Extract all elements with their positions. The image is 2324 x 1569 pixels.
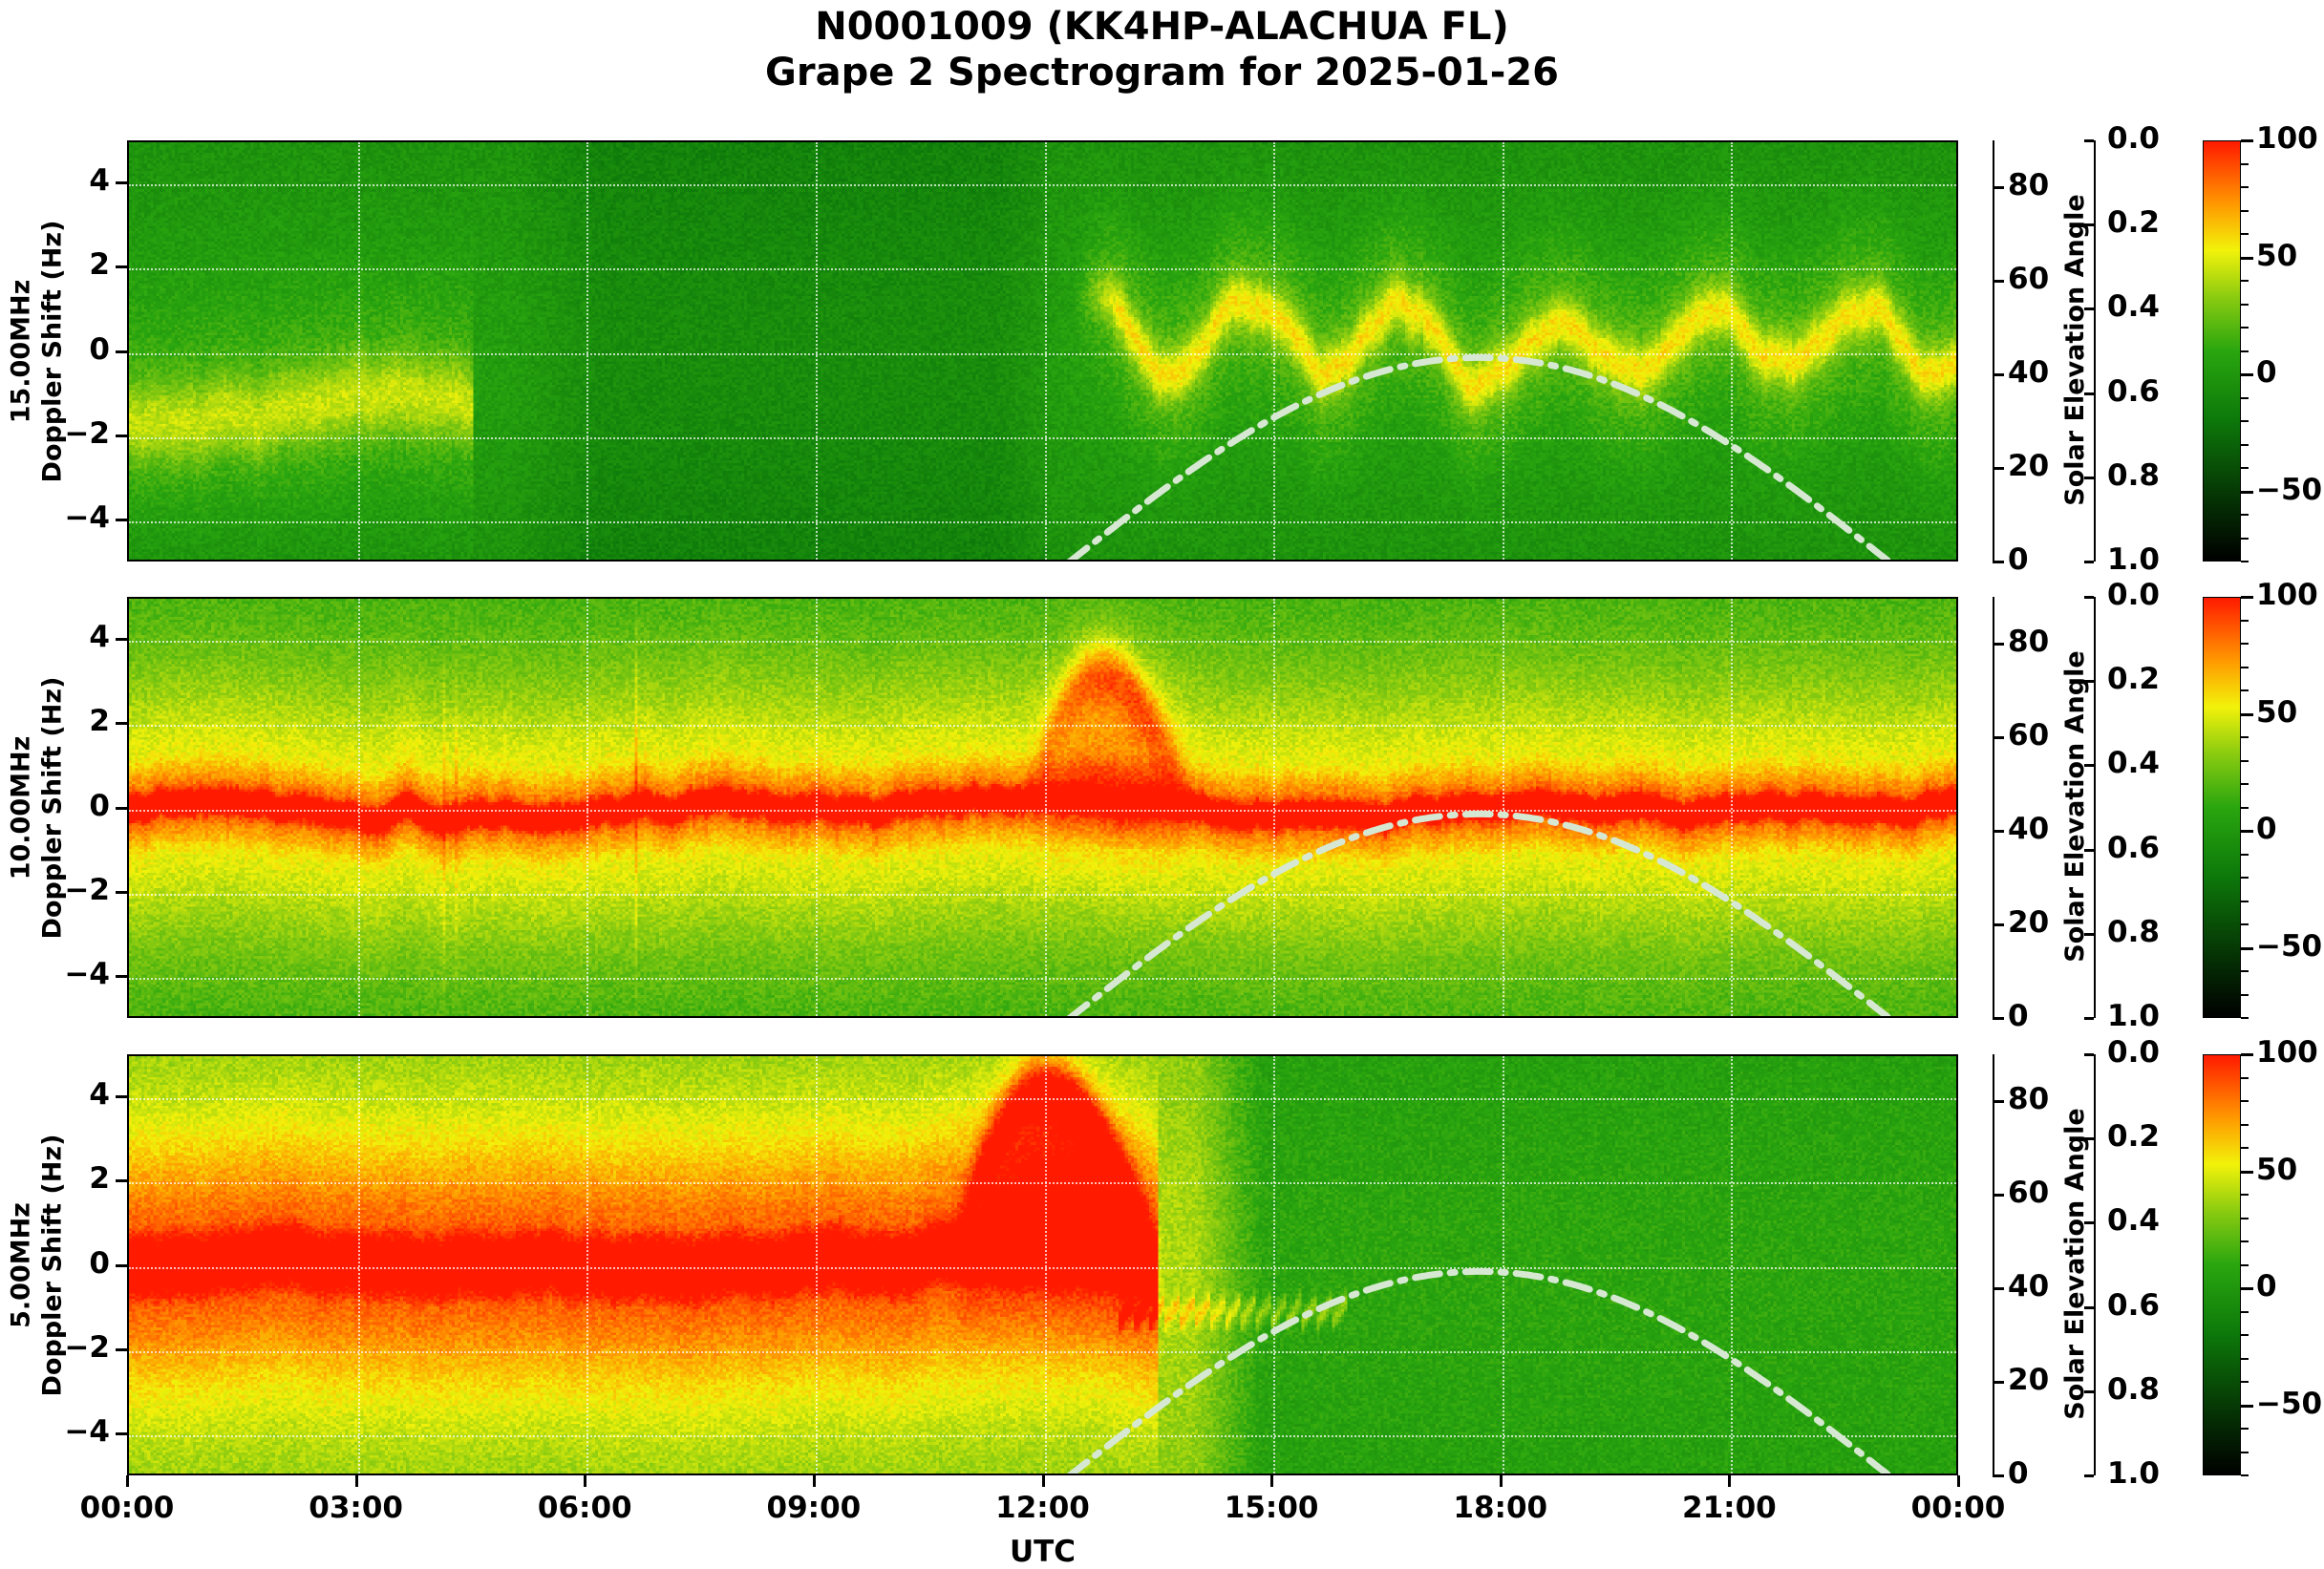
y-axis-tick-label: −4	[35, 957, 110, 991]
colorbar-minor-tick	[2241, 304, 2249, 306]
y-axis-tick-label: 4	[35, 1077, 110, 1112]
panel-15mhz[interactable]	[127, 140, 1958, 562]
solar-elevation-tick-label: 60	[2008, 718, 2049, 753]
eclipse-obscuration-tick-mark	[2084, 1390, 2094, 1393]
y-axis-tick-mark	[116, 1432, 127, 1435]
colorbar-tick-label: 50	[2256, 1153, 2297, 1187]
solar-elevation-tick-label: 60	[2008, 1176, 2049, 1210]
solar-elevation-axis	[1993, 1054, 1994, 1475]
colorbar-minor-tick	[2241, 163, 2249, 165]
y-axis-tick-label: 2	[35, 247, 110, 282]
y-axis-tick-mark	[116, 722, 127, 725]
spectrogram-image	[129, 1056, 1956, 1474]
eclipse-obscuration-tick-label: 0.6	[2107, 374, 2160, 409]
colorbar-tick-label: −50	[2256, 1387, 2322, 1421]
y-axis-tick-label: 0	[35, 332, 110, 367]
title-line-1: N0001009 (KK4HP-ALACHUA FL)	[0, 4, 2324, 50]
eclipse-obscuration-tick-label: 0.6	[2107, 831, 2160, 865]
solar-elevation-tick-label: 80	[2008, 1082, 2049, 1116]
solar-elevation-tick-mark	[1993, 373, 2004, 376]
colorbar-major-tick	[2241, 373, 2253, 376]
solar-elevation-tick-label: 40	[2008, 355, 2049, 390]
y-axis-tick-mark	[116, 1264, 127, 1267]
eclipse-obscuration-tick-label: 0.8	[2107, 915, 2160, 949]
panel-5mhz[interactable]	[127, 1054, 1958, 1475]
colorbar-tick-label: 50	[2256, 239, 2297, 273]
colorbar-minor-tick	[2241, 467, 2249, 469]
colorbar-minor-tick	[2241, 280, 2249, 282]
colorbar-minor-tick	[2241, 514, 2249, 516]
solar-elevation-tick-mark	[1993, 923, 2004, 926]
eclipse-obscuration-tick-mark	[2084, 561, 2094, 563]
solar-elevation-axis	[1993, 140, 1994, 562]
x-axis-tick-mark	[584, 1475, 586, 1487]
eclipse-obscuration-tick-mark	[2084, 477, 2094, 479]
y-axis-tick-mark	[116, 1348, 127, 1351]
eclipse-obscuration-tick-mark	[2084, 849, 2094, 852]
colorbar-minor-tick	[2241, 327, 2249, 329]
eclipse-obscuration-tick-label: 0.2	[2107, 205, 2160, 240]
solar-elevation-axis	[1993, 597, 1994, 1018]
solar-elevation-axis-label: Solar Elevation Angle	[2060, 1053, 2090, 1474]
colorbar-minor-tick	[2241, 420, 2249, 422]
x-axis-tick-label: 18:00	[1419, 1491, 1582, 1525]
colorbar-tick-label: −50	[2256, 473, 2322, 507]
colorbar-major-tick	[2241, 491, 2253, 494]
solar-elevation-tick-label: 0	[2008, 1456, 2029, 1491]
colorbar-major-tick	[2241, 830, 2253, 833]
colorbar-minor-tick	[2241, 1218, 2249, 1219]
eclipse-obscuration-tick-label: 0.0	[2107, 578, 2160, 612]
y-axis-tick-mark	[116, 519, 127, 521]
solar-elevation-tick-label: 0	[2008, 542, 2029, 577]
spectrogram-image	[129, 599, 1956, 1016]
colorbar-minor-tick	[2241, 1428, 2249, 1430]
y-axis-tick-mark	[116, 975, 127, 978]
colorbar-minor-tick	[2241, 760, 2249, 762]
y-axis-tick-label: 4	[35, 620, 110, 654]
colorbar-minor-tick	[2241, 1264, 2249, 1266]
eclipse-obscuration-tick-label: 1.0	[2107, 542, 2160, 577]
colorbar-minor-tick	[2241, 397, 2249, 399]
y-axis-tick-mark	[116, 350, 127, 353]
eclipse-obscuration-tick-mark	[2084, 1053, 2094, 1056]
x-axis-tick-mark	[126, 1475, 129, 1487]
eclipse-obscuration-tick-label: 0.0	[2107, 1035, 2160, 1070]
colorbar-minor-tick	[2241, 807, 2249, 809]
colorbar-major-tick	[2241, 1171, 2253, 1174]
solar-elevation-tick-label: 0	[2008, 999, 2029, 1033]
spectrogram-image	[129, 142, 1956, 560]
eclipse-obscuration-axis	[2094, 597, 2096, 1018]
eclipse-obscuration-tick-label: 0.8	[2107, 458, 2160, 493]
colorbar-minor-tick	[2241, 1474, 2249, 1476]
y-axis-tick-label: −4	[35, 500, 110, 535]
colorbar-tick-label: 100	[2256, 1035, 2318, 1070]
y-axis-tick-mark	[116, 807, 127, 810]
y-axis-tick-mark	[116, 1179, 127, 1182]
eclipse-obscuration-tick-mark	[2084, 307, 2094, 310]
y-axis-tick-label: 4	[35, 163, 110, 198]
eclipse-obscuration-tick-mark	[2084, 1137, 2094, 1140]
colorbar-major-tick	[2241, 1287, 2253, 1290]
eclipse-obscuration-tick-label: 0.4	[2107, 289, 2160, 324]
colorbar-minor-tick	[2241, 1311, 2249, 1313]
y-axis-tick-label: −4	[35, 1414, 110, 1449]
colorbar-minor-tick	[2241, 970, 2249, 972]
colorbar-tick-label: 100	[2256, 578, 2318, 612]
eclipse-obscuration-tick-mark	[2084, 1474, 2094, 1477]
eclipse-obscuration-tick-mark	[2084, 139, 2094, 142]
solar-elevation-tick-mark	[1993, 643, 2004, 646]
colorbar-minor-tick	[2241, 444, 2249, 446]
y-axis-tick-mark	[116, 1095, 127, 1098]
eclipse-obscuration-tick-label: 1.0	[2107, 1456, 2160, 1491]
y-axis-tick-mark	[116, 891, 127, 894]
solar-elevation-tick-label: 40	[2008, 812, 2049, 846]
solar-elevation-tick-mark	[1993, 1381, 2004, 1384]
x-axis-label: UTC	[127, 1535, 1958, 1569]
colorbar-minor-tick	[2241, 350, 2249, 352]
colorbar-minor-tick	[2241, 736, 2249, 738]
x-axis-tick-label: 21:00	[1648, 1491, 1810, 1525]
psd-colorbar[interactable]	[2203, 597, 2241, 1018]
y-axis-tick-mark	[116, 181, 127, 184]
x-axis-tick-label: 09:00	[733, 1491, 895, 1525]
eclipse-obscuration-tick-mark	[2084, 223, 2094, 226]
colorbar-minor-tick	[2241, 689, 2249, 691]
colorbar-minor-tick	[2241, 923, 2249, 925]
eclipse-obscuration-tick-mark	[2084, 392, 2094, 395]
chart-title: N0001009 (KK4HP-ALACHUA FL) Grape 2 Spec…	[0, 4, 2324, 95]
solar-elevation-tick-mark	[1993, 186, 2004, 189]
eclipse-obscuration-tick-label: 0.4	[2107, 746, 2160, 780]
psd-colorbar[interactable]	[2203, 140, 2241, 562]
x-axis-tick-mark	[1500, 1475, 1503, 1487]
title-line-2: Grape 2 Spectrogram for 2025-01-26	[0, 50, 2324, 95]
colorbar-minor-tick	[2241, 186, 2249, 188]
eclipse-obscuration-tick-mark	[2084, 1306, 2094, 1309]
x-axis-tick-mark	[1042, 1475, 1045, 1487]
colorbar-tick-label: 0	[2256, 812, 2277, 846]
y-axis-tick-label: −2	[35, 1330, 110, 1365]
x-axis-tick-mark	[813, 1475, 816, 1487]
eclipse-obscuration-tick-label: 0.4	[2107, 1203, 2160, 1238]
x-axis-tick-label: 15:00	[1190, 1491, 1353, 1525]
x-axis-tick-label: 00:00	[1877, 1491, 2039, 1525]
solar-elevation-tick-label: 20	[2008, 449, 2049, 483]
y-axis-tick-label: 2	[35, 1161, 110, 1196]
solar-elevation-tick-label: 60	[2008, 262, 2049, 296]
panel-10mhz[interactable]	[127, 597, 1958, 1018]
eclipse-obscuration-tick-label: 0.0	[2107, 121, 2160, 156]
y-axis-tick-mark	[116, 265, 127, 268]
colorbar-tick-label: 100	[2256, 121, 2318, 156]
solar-elevation-tick-label: 20	[2008, 1363, 2049, 1397]
colorbar-minor-tick	[2241, 1100, 2249, 1102]
colorbar-minor-tick	[2241, 901, 2249, 902]
solar-elevation-tick-mark	[1993, 467, 2004, 470]
eclipse-obscuration-tick-label: 0.2	[2107, 662, 2160, 696]
colorbar-minor-tick	[2241, 210, 2249, 212]
solar-elevation-tick-mark	[1993, 1017, 2004, 1020]
x-axis-tick-label: 03:00	[275, 1491, 437, 1525]
colorbar-minor-tick	[2241, 667, 2249, 668]
colorbar-minor-tick	[2241, 1147, 2249, 1149]
colorbar-major-tick	[2241, 596, 2253, 599]
solar-elevation-tick-label: 80	[2008, 168, 2049, 202]
solar-elevation-tick-mark	[1993, 1100, 2004, 1103]
y-axis-tick-label: 0	[35, 1246, 110, 1281]
eclipse-obscuration-tick-mark	[2084, 1221, 2094, 1224]
solar-elevation-axis-label: Solar Elevation Angle	[2060, 596, 2090, 1017]
colorbar-tick-label: 0	[2256, 355, 2277, 390]
eclipse-obscuration-tick-mark	[2084, 680, 2094, 683]
solar-elevation-tick-label: 40	[2008, 1269, 2049, 1304]
colorbar-minor-tick	[2241, 643, 2249, 645]
solar-elevation-tick-mark	[1993, 280, 2004, 283]
x-axis-tick-label: 06:00	[503, 1491, 666, 1525]
colorbar-major-tick	[2241, 1405, 2253, 1408]
psd-colorbar[interactable]	[2203, 1054, 2241, 1475]
colorbar-major-tick	[2241, 257, 2253, 260]
eclipse-obscuration-tick-label: 0.2	[2107, 1119, 2160, 1154]
colorbar-minor-tick	[2241, 1124, 2249, 1126]
eclipse-obscuration-tick-label: 0.8	[2107, 1372, 2160, 1407]
colorbar-minor-tick	[2241, 233, 2249, 235]
eclipse-obscuration-tick-mark	[2084, 1017, 2094, 1020]
eclipse-obscuration-tick-mark	[2084, 596, 2094, 599]
x-axis-tick-mark	[1957, 1475, 1960, 1487]
colorbar-minor-tick	[2241, 854, 2249, 856]
colorbar-minor-tick	[2241, 877, 2249, 879]
eclipse-obscuration-tick-label: 1.0	[2107, 999, 2160, 1033]
x-axis-tick-label: 00:00	[46, 1491, 208, 1525]
colorbar-minor-tick	[2241, 783, 2249, 785]
colorbar-major-tick	[2241, 139, 2253, 142]
colorbar-minor-tick	[2241, 1017, 2249, 1019]
solar-elevation-tick-mark	[1993, 1474, 2004, 1477]
colorbar-minor-tick	[2241, 1077, 2249, 1079]
colorbar-major-tick	[2241, 1053, 2253, 1056]
solar-elevation-tick-label: 20	[2008, 905, 2049, 940]
eclipse-obscuration-tick-mark	[2084, 764, 2094, 767]
colorbar-minor-tick	[2241, 994, 2249, 996]
colorbar-minor-tick	[2241, 1452, 2249, 1453]
eclipse-obscuration-axis	[2094, 1054, 2096, 1475]
colorbar-minor-tick	[2241, 538, 2249, 540]
colorbar-tick-label: −50	[2256, 929, 2322, 964]
eclipse-obscuration-axis	[2094, 140, 2096, 562]
eclipse-obscuration-tick-label: 0.6	[2107, 1288, 2160, 1323]
solar-elevation-tick-mark	[1993, 1194, 2004, 1197]
solar-elevation-tick-mark	[1993, 830, 2004, 833]
colorbar-minor-tick	[2241, 620, 2249, 622]
y-axis-tick-label: 2	[35, 704, 110, 738]
solar-elevation-axis-label: Solar Elevation Angle	[2060, 139, 2090, 561]
solar-elevation-tick-mark	[1993, 736, 2004, 739]
y-axis-tick-label: −2	[35, 416, 110, 451]
eclipse-obscuration-tick-mark	[2084, 933, 2094, 936]
colorbar-minor-tick	[2241, 1334, 2249, 1336]
colorbar-major-tick	[2241, 947, 2253, 950]
x-axis-tick-label: 12:00	[962, 1491, 1124, 1525]
x-axis-tick-mark	[1728, 1475, 1731, 1487]
x-axis-tick-mark	[1270, 1475, 1273, 1487]
solar-elevation-tick-mark	[1993, 561, 2004, 563]
colorbar-minor-tick	[2241, 1194, 2249, 1196]
colorbar-minor-tick	[2241, 1358, 2249, 1360]
y-axis-tick-label: −2	[35, 873, 110, 907]
x-axis-tick-mark	[355, 1475, 358, 1487]
colorbar-tick-label: 0	[2256, 1269, 2277, 1304]
solar-elevation-tick-label: 80	[2008, 625, 2049, 659]
y-axis-tick-label: 0	[35, 789, 110, 823]
y-axis-tick-mark	[116, 638, 127, 641]
solar-elevation-tick-mark	[1993, 1287, 2004, 1290]
colorbar-minor-tick	[2241, 561, 2249, 562]
colorbar-minor-tick	[2241, 1381, 2249, 1383]
colorbar-major-tick	[2241, 713, 2253, 716]
colorbar-minor-tick	[2241, 1240, 2249, 1242]
y-axis-tick-mark	[116, 435, 127, 437]
colorbar-tick-label: 50	[2256, 695, 2297, 730]
